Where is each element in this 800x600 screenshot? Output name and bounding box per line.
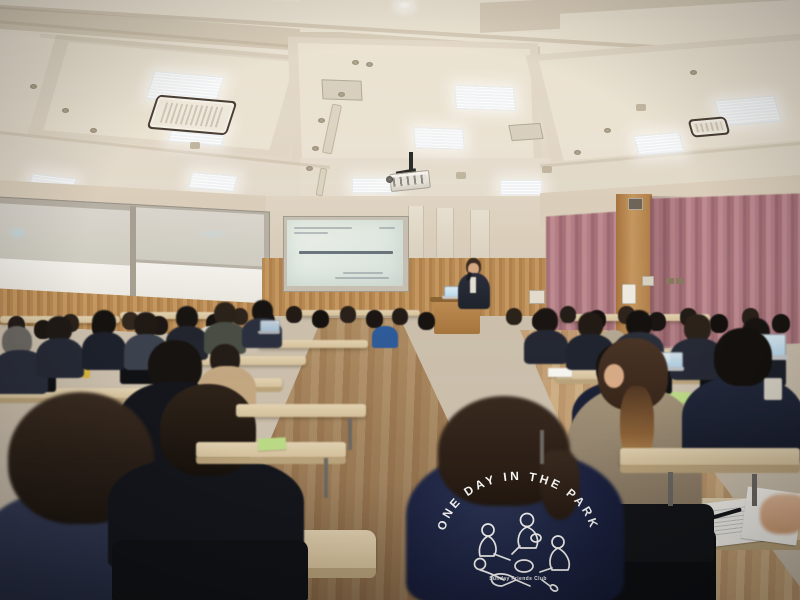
acoustic-panel xyxy=(470,210,490,264)
sprinkler-head xyxy=(366,62,373,67)
lecture-hall-photo: ▬▬▬▬▬ ▬▬▬▬ ▬▬▬▬▬▬ ▬▬▬▬▬▬▬▬▬▬▬▬▬▬▬▬▬▬▬▬▬ … xyxy=(0,0,800,600)
ceiling-speaker xyxy=(542,166,552,173)
ceiling-speaker xyxy=(456,172,466,179)
ceiling-access-panel xyxy=(321,79,362,100)
sprinkler-head xyxy=(90,128,97,133)
conference-chair xyxy=(112,540,308,600)
recessed-light-panel xyxy=(633,132,685,156)
wall-outlet[interactable] xyxy=(666,278,674,284)
wall-panel xyxy=(642,276,654,286)
attendee-with-handout xyxy=(756,486,800,546)
attendee-hand xyxy=(760,494,800,534)
acoustic-panel xyxy=(436,208,454,264)
attendee-ear xyxy=(604,364,624,388)
ceiling-speaker xyxy=(636,104,646,111)
ceiling-speaker xyxy=(190,142,200,149)
sprinkler-head xyxy=(352,60,359,65)
ceiling-downlight xyxy=(396,0,413,10)
hoodie-club-text: Sunday Friends Club xyxy=(432,576,604,582)
acoustic-panel xyxy=(408,206,424,264)
attendee-shirt-collar xyxy=(764,378,782,400)
attendee-dark-suit xyxy=(678,328,800,458)
sprinkler-head xyxy=(604,128,611,133)
sprinkler-head xyxy=(690,70,697,75)
ceiling-ac-vent xyxy=(687,116,730,137)
sprinkler-head xyxy=(312,146,319,151)
recessed-light-panel xyxy=(413,127,465,150)
wall-speaker xyxy=(628,198,643,210)
whiteboard-glare xyxy=(196,228,230,240)
whiteboard-glare xyxy=(6,226,28,240)
sprinkler-head xyxy=(574,150,581,155)
sprinkler-head xyxy=(30,84,37,89)
attendee-head xyxy=(714,328,772,386)
ceiling-ac-vent xyxy=(146,95,237,136)
hoodie-arc-text: ONE DAY IN THE PARK xyxy=(434,469,601,532)
recessed-light-panel xyxy=(454,85,516,111)
long-desk xyxy=(236,404,366,417)
svg-text:ONE DAY IN THE PARK: ONE DAY IN THE PARK xyxy=(434,469,601,532)
sprinkler-head xyxy=(318,118,325,123)
green-handout xyxy=(258,437,287,450)
ceiling-access-panel xyxy=(508,123,543,141)
sprinkler-head xyxy=(62,108,69,113)
projection-screen xyxy=(287,220,403,286)
recessed-light-panel xyxy=(500,180,542,195)
sprinkler-head xyxy=(338,92,345,97)
wall-outlet[interactable] xyxy=(676,278,684,284)
attendee-laptop[interactable] xyxy=(258,320,280,335)
long-desk xyxy=(620,448,800,466)
sprinkler-head xyxy=(306,166,313,171)
